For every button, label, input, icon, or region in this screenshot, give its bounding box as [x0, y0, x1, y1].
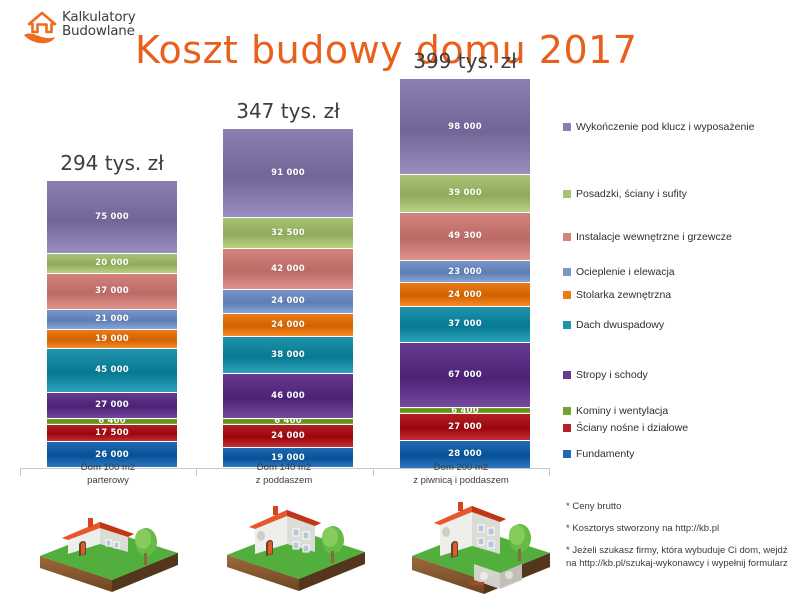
- segment-value-label: 49 300: [448, 231, 482, 241]
- brand-line-1: Kalkulatory: [62, 10, 136, 24]
- category-label-line: Dom 200 m2: [371, 462, 551, 475]
- bar-segment[interactable]: 24 000: [223, 314, 353, 337]
- bar-segment[interactable]: 24 000: [223, 290, 353, 313]
- segment-value-label: 27 000: [448, 422, 482, 432]
- segment-value-label: 21 000: [95, 314, 129, 324]
- category-label-0: Dom 100 m2parterowy: [18, 462, 198, 488]
- bar-column-2[interactable]: 98 00039 00049 30023 00024 00037 00067 0…: [400, 79, 530, 468]
- legend-swatch-icon: [563, 424, 571, 432]
- stacked-bar-chart: 75 00020 00037 00021 00019 00045 00027 0…: [20, 78, 550, 468]
- segment-value-label: 75 000: [95, 212, 129, 222]
- footnote-0: * Ceny brutto: [566, 500, 798, 514]
- bar-total-label: 399 tys. zł: [385, 49, 545, 73]
- segment-value-label: 46 000: [271, 391, 305, 401]
- legend-swatch-icon: [563, 450, 571, 458]
- legend-swatch-icon: [563, 291, 571, 299]
- category-label-line: z piwnicą i poddaszem: [371, 475, 551, 488]
- bar-segment[interactable]: 17 500: [47, 425, 177, 442]
- bar-segment[interactable]: 42 000: [223, 249, 353, 290]
- segment-value-label: 32 500: [271, 228, 305, 238]
- bar-segment[interactable]: 75 000: [47, 181, 177, 254]
- category-label-1: Dom 140 m2z poddaszem: [194, 462, 374, 488]
- bar-segment[interactable]: 46 000: [223, 374, 353, 419]
- legend-item-2[interactable]: Instalacje wewnętrzne i grzewcze: [563, 231, 732, 243]
- footnote-2: * Jeżeli szukasz firmy, która wybuduje C…: [566, 544, 798, 572]
- bar-segment[interactable]: 27 000: [47, 393, 177, 419]
- brand-logo-text: Kalkulatory Budowlane: [62, 10, 136, 39]
- bar-segment[interactable]: 91 000: [223, 129, 353, 218]
- segment-value-label: 42 000: [271, 264, 305, 274]
- bar-segment[interactable]: 19 000: [47, 330, 177, 349]
- segment-value-label: 67 000: [448, 370, 482, 380]
- legend-label: Stropy i schody: [576, 369, 648, 381]
- segment-value-label: 17 500: [95, 428, 129, 438]
- segment-value-label: 24 000: [448, 290, 482, 300]
- legend-label: Dach dwuspadowy: [576, 319, 664, 331]
- bar-column-1[interactable]: 91 00032 50042 00024 00024 00038 00046 0…: [223, 129, 353, 468]
- bar-column-0[interactable]: 75 00020 00037 00021 00019 00045 00027 0…: [47, 181, 177, 468]
- legend-item-7[interactable]: Kominy i wentylacja: [563, 405, 668, 417]
- house-illustration-with-basement-and-attic: [400, 488, 560, 583]
- stacked-bar[interactable]: 91 00032 50042 00024 00024 00038 00046 0…: [223, 129, 353, 468]
- segment-value-label: 98 000: [448, 122, 482, 132]
- house-in-hand-icon: [22, 10, 62, 48]
- footnotes: * Ceny brutto* Kosztorys stworzony na ht…: [566, 500, 798, 579]
- segment-value-label: 24 000: [271, 431, 305, 441]
- legend-item-5[interactable]: Dach dwuspadowy: [563, 319, 664, 331]
- house-illustration-with-attic: [215, 492, 375, 587]
- segment-value-label: 19 000: [95, 334, 129, 344]
- bar-segment[interactable]: 24 000: [400, 283, 530, 306]
- bar-segment[interactable]: 32 500: [223, 218, 353, 250]
- infographic-page: Kalkulatory Budowlane Koszt budowy domu …: [0, 0, 800, 598]
- legend-swatch-icon: [563, 407, 571, 415]
- segment-value-label: 91 000: [271, 168, 305, 178]
- category-label-line: parterowy: [18, 475, 198, 488]
- category-label-line: Dom 100 m2: [18, 462, 198, 475]
- legend-item-0[interactable]: Wykończenie pod klucz i wyposażenie: [563, 121, 755, 133]
- legend-swatch-icon: [563, 371, 571, 379]
- segment-value-label: 28 000: [448, 449, 482, 459]
- segment-value-label: 24 000: [271, 296, 305, 306]
- legend-item-9[interactable]: Fundamenty: [563, 448, 634, 460]
- legend-label: Posadzki, ściany i sufity: [576, 188, 687, 200]
- house-illustration-single-storey: [28, 498, 188, 593]
- bar-segment[interactable]: 49 300: [400, 213, 530, 261]
- segment-value-label: 37 000: [95, 286, 129, 296]
- segment-value-label: 38 000: [271, 350, 305, 360]
- legend-item-4[interactable]: Stolarka zewnętrzna: [563, 289, 671, 301]
- bar-segment[interactable]: 39 000: [400, 175, 530, 213]
- legend-item-6[interactable]: Stropy i schody: [563, 369, 648, 381]
- legend-label: Instalacje wewnętrzne i grzewcze: [576, 231, 732, 243]
- legend-swatch-icon: [563, 190, 571, 198]
- category-label-line: z poddaszem: [194, 475, 374, 488]
- legend-label: Wykończenie pod klucz i wyposażenie: [576, 121, 755, 133]
- legend-label: Fundamenty: [576, 448, 634, 460]
- bar-segment[interactable]: 37 000: [400, 307, 530, 343]
- segment-value-label: 39 000: [448, 188, 482, 198]
- bar-segment[interactable]: 67 000: [400, 343, 530, 408]
- segment-value-label: 26 000: [95, 450, 129, 460]
- legend-swatch-icon: [563, 123, 571, 131]
- segment-value-label: 37 000: [448, 319, 482, 329]
- legend-label: Kominy i wentylacja: [576, 405, 668, 417]
- bar-segment[interactable]: 23 000: [400, 261, 530, 283]
- legend-swatch-icon: [563, 233, 571, 241]
- brand-logo[interactable]: Kalkulatory Budowlane: [22, 8, 152, 52]
- bar-total-label: 294 tys. zł: [32, 151, 192, 175]
- stacked-bar[interactable]: 75 00020 00037 00021 00019 00045 00027 0…: [47, 181, 177, 468]
- bar-segment[interactable]: 37 000: [47, 274, 177, 310]
- bar-segment[interactable]: 98 000: [400, 79, 530, 175]
- segment-value-label: 27 000: [95, 400, 129, 410]
- legend-label: Stolarka zewnętrzna: [576, 289, 671, 301]
- category-label-line: Dom 140 m2: [194, 462, 374, 475]
- legend-swatch-icon: [563, 268, 571, 276]
- brand-line-2: Budowlane: [62, 24, 136, 38]
- bar-segment[interactable]: 38 000: [223, 337, 353, 374]
- bar-segment[interactable]: 20 000: [47, 254, 177, 274]
- bar-total-label: 347 tys. zł: [208, 99, 368, 123]
- segment-value-label: 23 000: [448, 267, 482, 277]
- legend-swatch-icon: [563, 321, 571, 329]
- segment-value-label: 45 000: [95, 365, 129, 375]
- stacked-bar[interactable]: 98 00039 00049 30023 00024 00037 00067 0…: [400, 79, 530, 468]
- legend-item-8[interactable]: Ściany nośne i działowe: [563, 422, 688, 434]
- legend-item-1[interactable]: Posadzki, ściany i sufity: [563, 188, 687, 200]
- bar-segment[interactable]: 45 000: [47, 349, 177, 393]
- footnote-1: * Kosztorys stworzony na http://kb.pl: [566, 522, 798, 536]
- legend-label: Ocieplenie i elewacja: [576, 266, 675, 278]
- legend-label: Ściany nośne i działowe: [576, 422, 688, 434]
- category-label-2: Dom 200 m2z piwnicą i poddaszem: [371, 462, 551, 488]
- legend-item-3[interactable]: Ocieplenie i elewacja: [563, 266, 675, 278]
- segment-value-label: 24 000: [271, 320, 305, 330]
- segment-value-label: 20 000: [95, 258, 129, 268]
- bar-segment[interactable]: 27 000: [400, 414, 530, 440]
- bar-segment[interactable]: 24 000: [223, 425, 353, 448]
- bar-segment[interactable]: 21 000: [47, 310, 177, 330]
